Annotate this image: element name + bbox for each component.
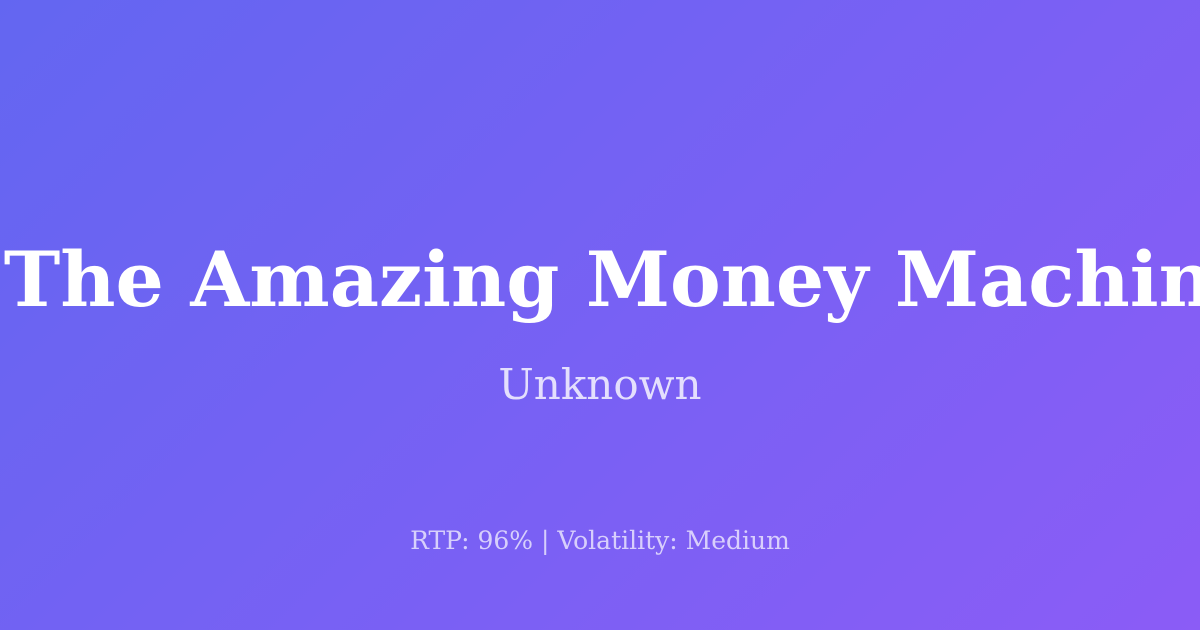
og-share-card: 0 1 F 3 B 0 The Amazing Money Machine Un… [0,0,1200,630]
page-subtitle: Unknown [0,360,1200,410]
title-row: 0 1 F 3 B 0 The Amazing Money Machine [0,232,1200,328]
page-title: 0 1 F 3 B 0 The Amazing Money Machine [0,240,1200,320]
game-stats-line: RTP: 96% | Volatility: Medium [0,526,1200,556]
page-title-text: The Amazing Money Machine [4,240,1200,320]
